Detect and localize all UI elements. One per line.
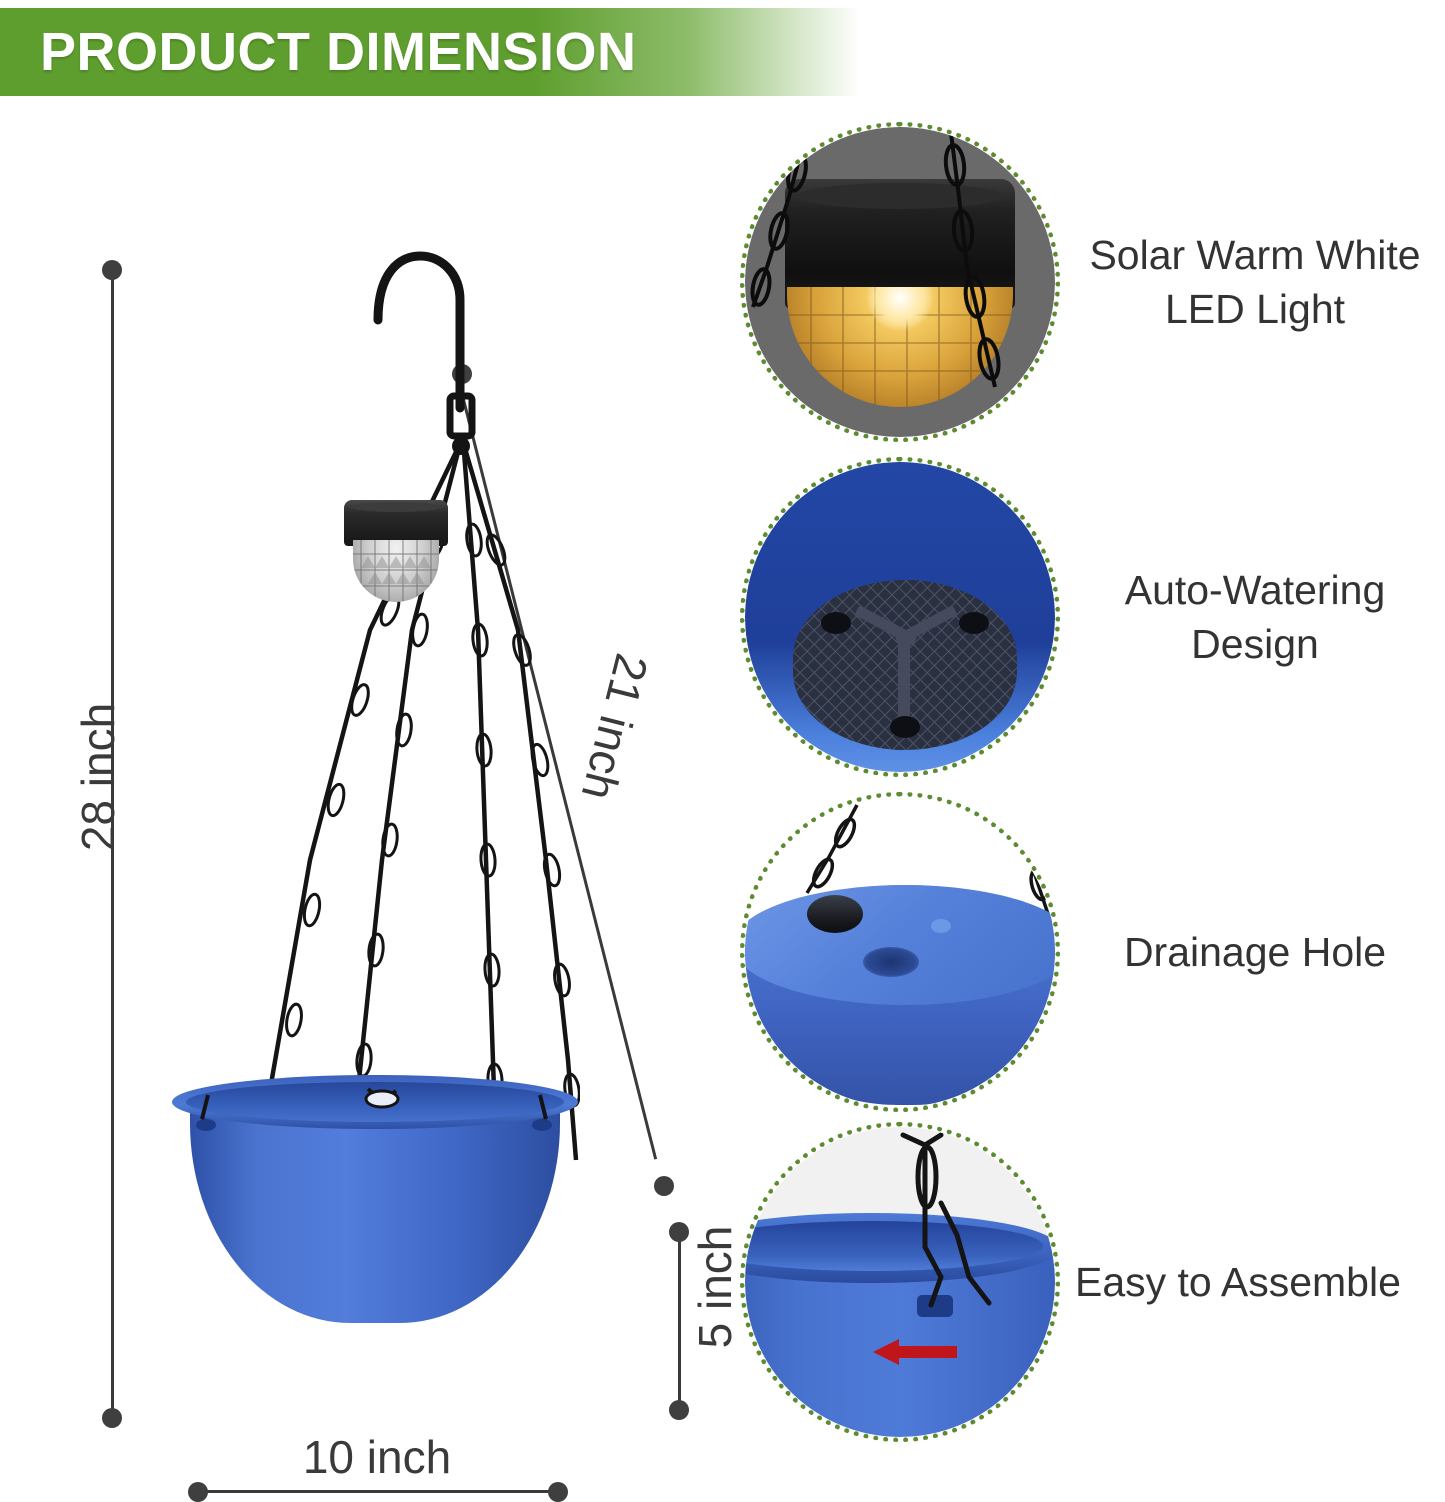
page-title: PRODUCT DIMENSION bbox=[40, 24, 637, 80]
feature-label-line1: Easy to Assemble bbox=[1075, 1255, 1401, 1309]
lamp-chain-icon bbox=[745, 127, 1055, 437]
diameter-dimension-label: 10 inch bbox=[196, 1430, 558, 1484]
feature-easy-to-assemble[interactable]: Easy to Assemble bbox=[735, 1122, 1445, 1442]
feature-image-auto-watering bbox=[740, 457, 1060, 777]
height-dimension-label: 28 inch bbox=[71, 667, 125, 887]
drain-hole-icon bbox=[863, 947, 919, 977]
feature-solar-led-light[interactable]: Solar Warm White LED Light bbox=[735, 122, 1445, 442]
feature-label-solar-led-light: Solar Warm White LED Light bbox=[1065, 122, 1445, 442]
mesh-insert-icon bbox=[793, 580, 1017, 750]
feature-label-drainage-hole: Drainage Hole bbox=[1065, 792, 1445, 1112]
product-dimension-diagram: 28 inch 21 inch 5 inch 10 inch bbox=[0, 100, 760, 1442]
solar-light-module bbox=[344, 500, 448, 600]
feature-label-line1: Solar Warm White bbox=[1089, 228, 1420, 282]
chain-dimension-endpoint-bottom bbox=[654, 1176, 674, 1196]
drain-plug-icon bbox=[807, 895, 863, 933]
assembly-hook-icon bbox=[745, 1127, 1055, 1437]
diameter-dimension-endpoint-left bbox=[188, 1482, 208, 1502]
faceted-glass-icon bbox=[353, 540, 439, 602]
feature-label-line2: Design bbox=[1125, 617, 1386, 671]
feature-image-drainage-hole bbox=[740, 792, 1060, 1112]
rim-hook-icon bbox=[172, 1075, 578, 1323]
mesh-foot-bottom bbox=[890, 716, 920, 738]
feature-image-easy-to-assemble bbox=[740, 1122, 1060, 1442]
planter-bowl bbox=[172, 1075, 578, 1323]
mesh-foot-right bbox=[959, 612, 989, 634]
pot-underside-icon bbox=[745, 885, 1055, 1005]
feature-label-auto-watering: Auto-Watering Design bbox=[1065, 457, 1445, 777]
direction-arrow-icon bbox=[873, 1339, 957, 1365]
feature-auto-watering[interactable]: Auto-Watering Design bbox=[735, 457, 1445, 777]
depth-dimension-endpoint-top bbox=[669, 1222, 689, 1242]
height-dimension-endpoint-bottom bbox=[102, 1408, 122, 1428]
feature-drainage-hole[interactable]: Drainage Hole bbox=[735, 792, 1445, 1112]
feature-label-line1: Auto-Watering bbox=[1125, 563, 1386, 617]
diameter-dimension-line bbox=[196, 1490, 558, 1493]
feature-label-easy-to-assemble: Easy to Assemble bbox=[1065, 1122, 1445, 1442]
feature-label-line1: Drainage Hole bbox=[1124, 925, 1386, 979]
diameter-dimension-endpoint-right bbox=[548, 1482, 568, 1502]
height-dimension-endpoint-top bbox=[102, 260, 122, 280]
solar-light-dome bbox=[353, 540, 439, 602]
header-banner: PRODUCT DIMENSION bbox=[0, 8, 860, 96]
depth-dimension-endpoint-bottom bbox=[669, 1400, 689, 1420]
mesh-foot-left bbox=[821, 612, 851, 634]
depth-dimension-line bbox=[678, 1230, 681, 1410]
feature-label-line2: LED Light bbox=[1089, 282, 1420, 336]
feature-image-solar-led-light bbox=[740, 122, 1060, 442]
depth-dimension-label: 5 inch bbox=[688, 1187, 742, 1387]
feature-list: Solar Warm White LED Light bbox=[735, 112, 1445, 1442]
pot-vent-icon bbox=[931, 919, 951, 933]
